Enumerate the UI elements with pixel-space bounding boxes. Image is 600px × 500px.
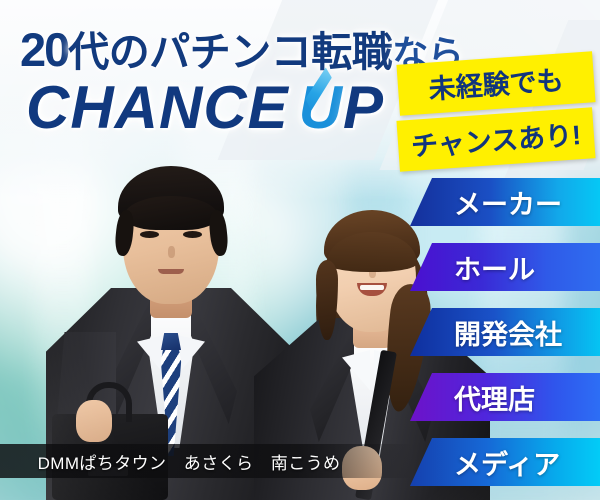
male-tie-knot (161, 333, 181, 350)
credits-text: DMMぱちタウン あさくら 南こうめ (38, 449, 341, 474)
male-hair (118, 166, 224, 228)
headline-middle: 代のパチンコ転職 (68, 29, 392, 75)
male-nose (168, 246, 175, 258)
category-button-hall[interactable]: ホール (410, 243, 600, 291)
category-label: メーカー (454, 183, 562, 222)
category-button-development-company[interactable]: 開発会社 (410, 308, 600, 356)
headline-age-number: 20 (20, 23, 68, 76)
badge-line-1: 未経験でも (396, 51, 595, 116)
category-label: メディア (454, 443, 560, 482)
badge-line-2: チャンスあり! (396, 107, 595, 172)
inexperienced-welcome-badge: 未経験でも チャンスあり! (398, 58, 594, 165)
category-label: 代理店 (454, 378, 535, 417)
category-button-maker[interactable]: メーカー (410, 178, 600, 226)
category-label: ホール (454, 248, 535, 287)
recruitment-banner[interactable]: 20代のパチンコ転職なら CHANCEUP 未経験でも チャンスあり! メーカー… (0, 0, 600, 500)
logo-word-up: UP (299, 73, 384, 142)
chance-up-logo: CHANCEUP (26, 73, 384, 142)
job-category-list: メーカー ホール 開発会社 代理店 メディア (410, 178, 600, 486)
logo-letter-p: P (343, 74, 384, 141)
male-hand (76, 400, 112, 442)
male-mouth (158, 269, 184, 274)
logo-word-chance: CHANCE (26, 74, 289, 141)
category-button-media[interactable]: メディア (410, 438, 600, 486)
male-eye-left (140, 231, 159, 238)
category-label: 開発会社 (454, 313, 562, 352)
male-eye-right (183, 231, 202, 238)
credits-bar: DMMぱちタウン あさくら 南こうめ (0, 444, 412, 478)
female-teeth (360, 285, 384, 290)
category-button-agency[interactable]: 代理店 (410, 373, 600, 421)
